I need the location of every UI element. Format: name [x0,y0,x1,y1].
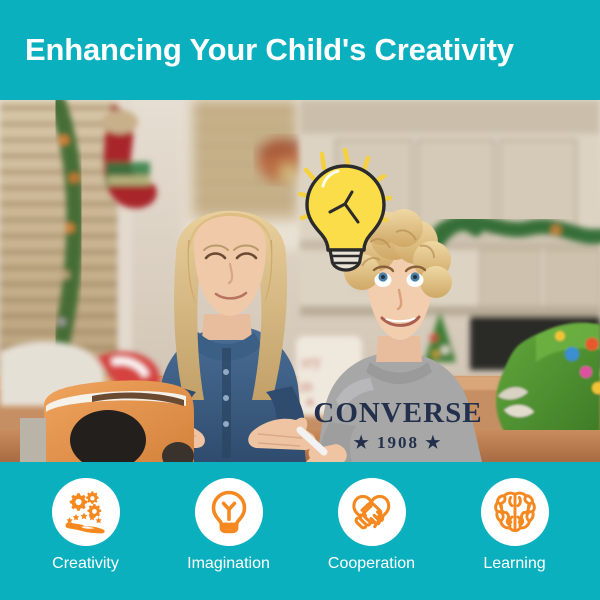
brain-icon [492,489,538,535]
svg-text:m: m [298,376,313,396]
feature-label: Learning [483,555,545,573]
feature-item-creativity[interactable]: Creativity [20,478,152,573]
feature-icon-circle [338,478,406,546]
lightbulb-icon [206,489,252,535]
svg-text:rry: rry [300,351,322,372]
page-title: Enhancing Your Child's Creativity [25,32,514,68]
handshake-heart-icon [348,489,395,536]
promo-poster: Enhancing Your Child's Creativity [0,0,600,600]
feature-list: Creativity Imagination [0,462,600,600]
hand-gears-stars-icon [63,489,109,535]
feature-label: Imagination [187,555,270,573]
feature-icon-circle [195,478,263,546]
feature-label: Creativity [52,555,119,573]
feature-item-learning[interactable]: Learning [449,478,581,573]
hero-photo: rry m [0,100,600,462]
feature-item-imagination[interactable]: Imagination [163,478,295,573]
feature-icon-circle [52,478,120,546]
feature-item-cooperation[interactable]: Cooperation [306,478,438,573]
feature-label: Cooperation [328,555,415,573]
feature-icon-circle [481,478,549,546]
svg-text:★ 1908 ★: ★ 1908 ★ [354,433,443,452]
header-banner: Enhancing Your Child's Creativity [0,0,600,100]
